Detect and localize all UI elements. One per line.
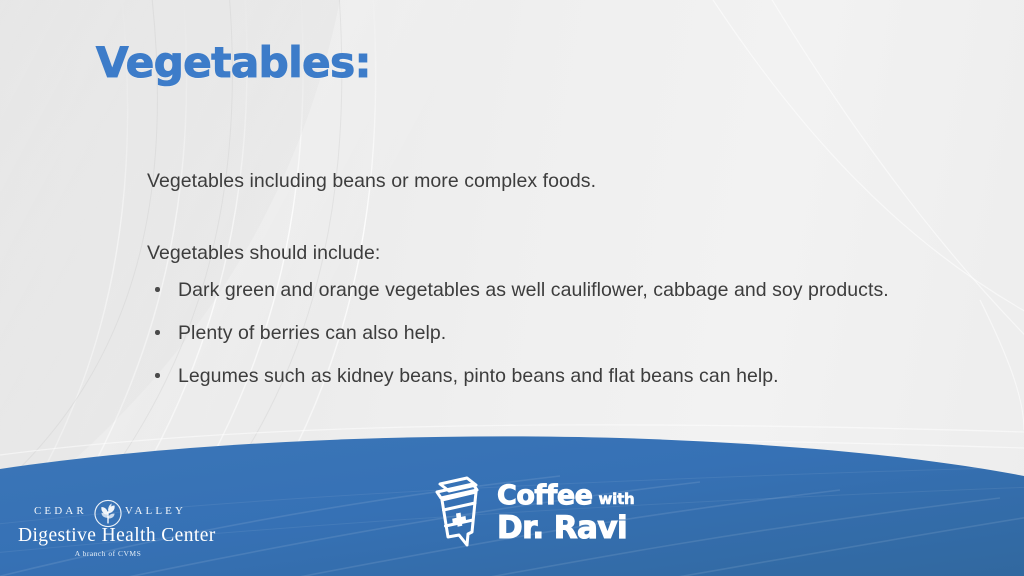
- coffee-word: Coffee: [497, 482, 592, 509]
- intro-paragraph: Vegetables including beans or more compl…: [147, 168, 947, 194]
- valley-word: Valley: [125, 505, 186, 517]
- lead-in-paragraph: Vegetables should include:: [147, 240, 947, 266]
- list-item-text: Dark green and orange vegetables as well…: [178, 279, 889, 301]
- with-word: with: [598, 492, 634, 507]
- cedar-word: Cedar: [34, 505, 87, 517]
- list-item-text: Legumes such as kidney beans, pinto bean…: [178, 365, 779, 387]
- cedar-valley-name: Digestive Health Center: [18, 526, 198, 546]
- slide-body: Vegetables including beans or more compl…: [147, 168, 947, 390]
- coffee-logo-text: Coffee with Dr. Ravi: [497, 482, 635, 544]
- slide: Vegetables: Vegetables including beans o…: [0, 0, 1024, 576]
- list-item-text: Plenty of berries can also help.: [178, 322, 446, 344]
- cedar-valley-logo: Cedar Valley Digestive Health Center A b…: [18, 501, 198, 563]
- cedar-valley-tagline: A branch of CVMS: [18, 549, 198, 558]
- coffee-logo-line1: Coffee with: [497, 482, 635, 509]
- tree-circle-icon: [94, 499, 123, 528]
- bullet-list: Dark green and orange vegetables as well…: [147, 278, 947, 390]
- coffee-with-dr-ravi-logo: Coffee with Dr. Ravi: [424, 474, 635, 552]
- coffee-cup-medical-cross-icon: [424, 474, 486, 552]
- bullet-dot-icon: [155, 330, 160, 335]
- list-item: Plenty of berries can also help.: [147, 321, 947, 347]
- bullet-dot-icon: [155, 287, 160, 292]
- cedar-valley-top-row: Cedar Valley: [18, 501, 198, 525]
- list-item: Dark green and orange vegetables as well…: [147, 278, 947, 304]
- dr-ravi-word: Dr. Ravi: [497, 510, 627, 546]
- bullet-dot-icon: [155, 373, 160, 378]
- page-title: Vegetables:: [96, 38, 371, 87]
- list-item: Legumes such as kidney beans, pinto bean…: [147, 364, 947, 390]
